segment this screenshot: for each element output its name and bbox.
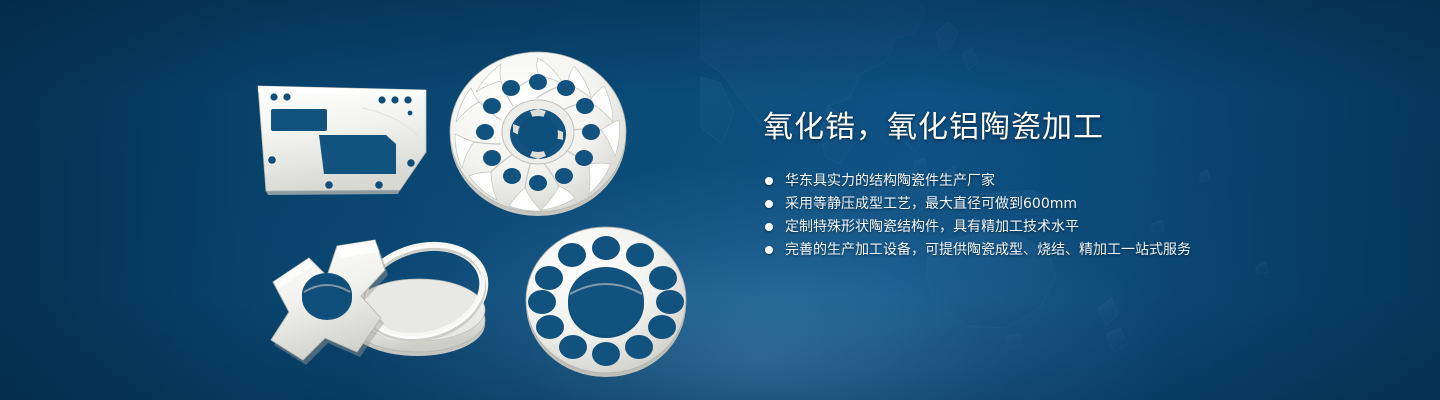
- banner-headline: 氧化锆，氧化铝陶瓷加工: [763, 108, 1323, 148]
- bullet-dot-icon: [765, 177, 773, 185]
- bullet-dot-icon: [765, 223, 773, 231]
- feature-list: 华东具实力的结构陶瓷件生产厂家 采用等静压成型工艺，最大直径可做到600mm 定…: [763, 174, 1323, 258]
- banner-copy: 氧化锆，氧化铝陶瓷加工 华东具实力的结构陶瓷件生产厂家 采用等静压成型工艺，最大…: [763, 108, 1323, 266]
- ceramic-impeller-image: [443, 48, 633, 216]
- product-image-group: [0, 0, 760, 400]
- ceramic-ring-plate-image: [518, 222, 698, 377]
- feature-item-label: 华东具实力的结构陶瓷件生产厂家: [785, 173, 995, 189]
- feature-item: 定制特殊形状陶瓷结构件，具有精加工技术水平: [763, 220, 1323, 235]
- bullet-dot-icon: [765, 246, 773, 254]
- bullet-dot-icon: [765, 200, 773, 208]
- feature-item-label: 采用等静压成型工艺，最大直径可做到600mm: [785, 196, 1077, 212]
- hero-banner: 氧化锆，氧化铝陶瓷加工 华东具实力的结构陶瓷件生产厂家 采用等静压成型工艺，最大…: [0, 0, 1440, 400]
- ceramic-flat-plate-image: [250, 78, 435, 203]
- feature-item: 采用等静压成型工艺，最大直径可做到600mm: [763, 197, 1323, 212]
- feature-item: 完善的生产加工设备，可提供陶瓷成型、烧结、精加工一站式服务: [763, 243, 1323, 258]
- ceramic-cross-plate-image: [245, 222, 445, 372]
- feature-item-label: 定制特殊形状陶瓷结构件，具有精加工技术水平: [785, 219, 1079, 235]
- feature-item-label: 完善的生产加工设备，可提供陶瓷成型、烧结、精加工一站式服务: [785, 242, 1191, 258]
- feature-item: 华东具实力的结构陶瓷件生产厂家: [763, 174, 1323, 189]
